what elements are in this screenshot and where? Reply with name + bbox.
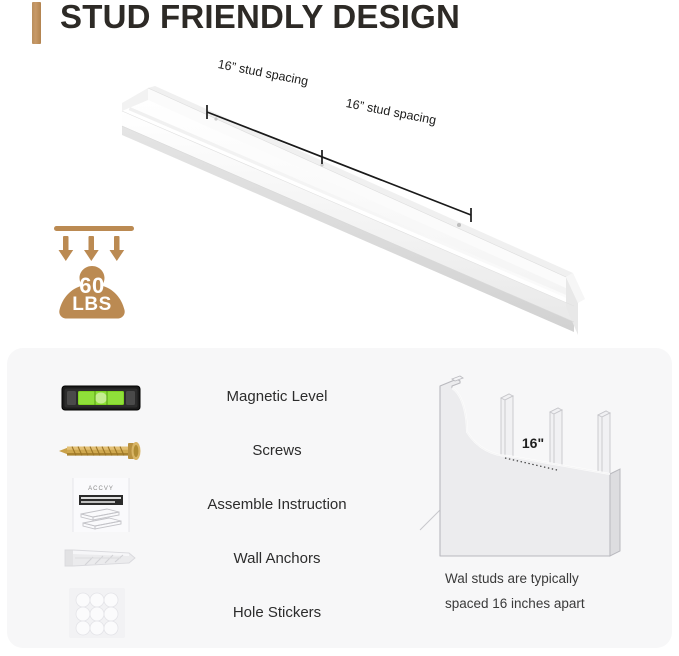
accessory-label: Wall Anchors (177, 532, 377, 586)
caption-line-1: Wal studs are typically (405, 566, 655, 591)
down-arrow-icon (84, 236, 99, 261)
shelf-body (122, 86, 585, 335)
stud-dimension-label: 16" (522, 435, 544, 451)
screw-icon (55, 424, 159, 478)
list-item: Wall Anchors (7, 532, 347, 586)
page-header: STUD FRIENDLY DESIGN (0, 0, 679, 50)
magnetic-level-icon (55, 370, 159, 424)
accessory-label: Hole Stickers (177, 586, 377, 640)
mount-hole (457, 223, 461, 227)
accessory-label: Assemble Instruction (177, 478, 377, 532)
wall-studs-diagram: 16" (405, 370, 655, 570)
list-item: ACCVY Assemble Instruction (7, 478, 347, 532)
weight-capacity-badge: 60 LBS (48, 222, 144, 327)
down-arrow-icon (59, 236, 74, 261)
hole-sticker-sheet-icon (55, 586, 159, 640)
accessory-label: Screws (177, 424, 377, 478)
accessory-label: Magnetic Level (177, 370, 377, 424)
list-item: Screws (7, 424, 347, 478)
title-accent-bar (32, 2, 41, 44)
list-item: Magnetic Level (7, 370, 347, 424)
wall-anchor-icon (55, 532, 159, 586)
down-arrow-icon (110, 236, 125, 261)
page-title: STUD FRIENDLY DESIGN (60, 0, 460, 36)
list-item: Hole Stickers (7, 586, 347, 640)
weight-unit: LBS (48, 294, 136, 316)
wall-studs-caption: Wal studs are typically spaced 16 inches… (405, 566, 655, 616)
accessories-card: Magnetic Level (7, 348, 672, 648)
caption-line-2: spaced 16 inches apart (405, 591, 655, 616)
mount-hole (214, 117, 217, 120)
accessories-list: Magnetic Level (7, 370, 347, 640)
svg-text:ACCVY: ACCVY (88, 486, 114, 492)
instruction-manual-icon: ACCVY (55, 478, 159, 532)
